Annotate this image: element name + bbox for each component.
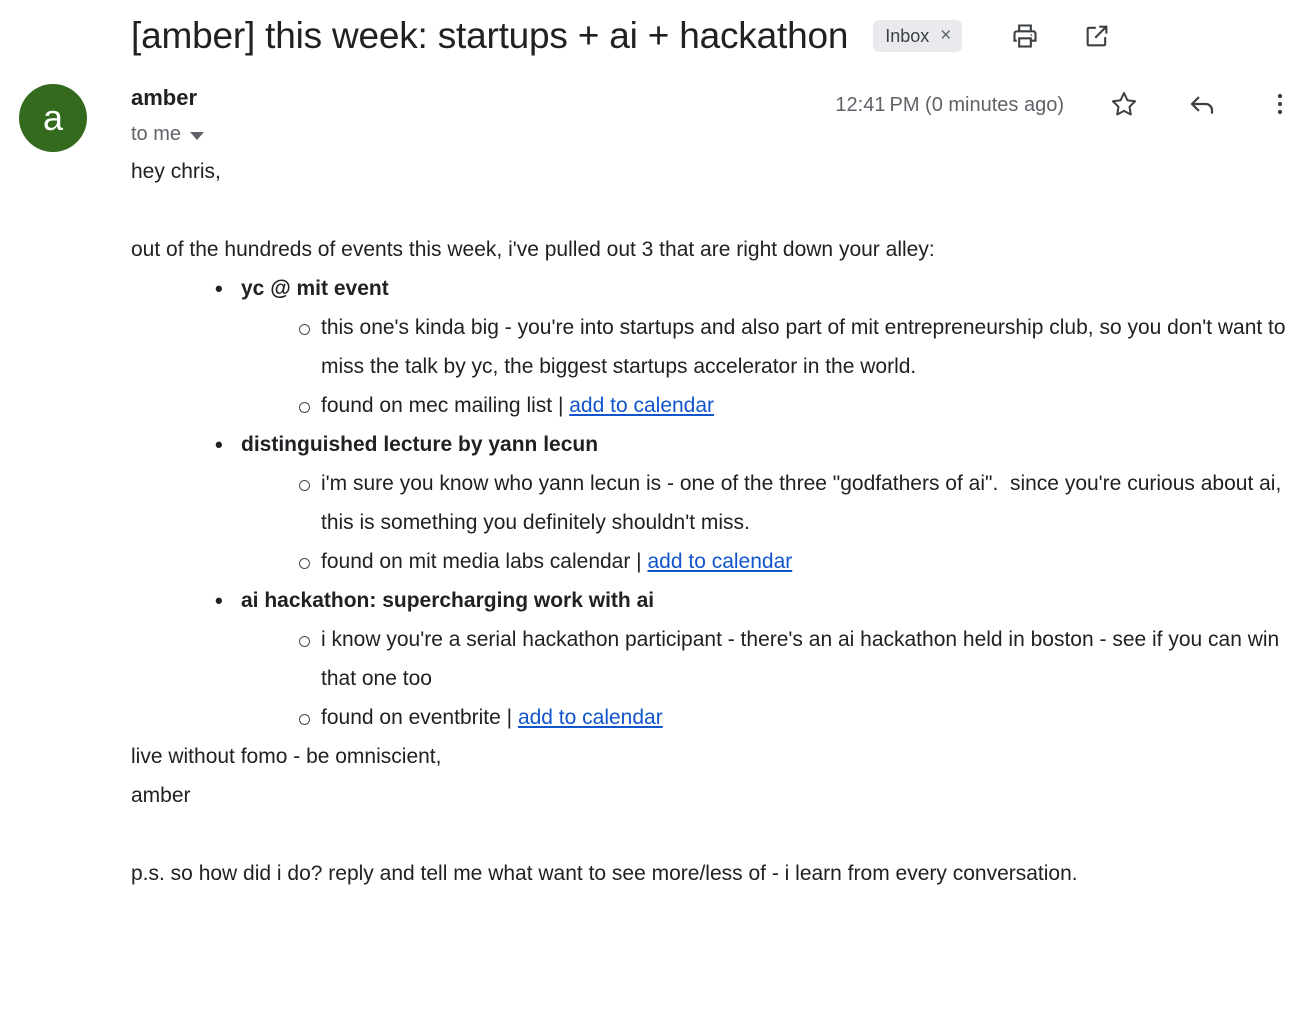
spacer — [131, 191, 1296, 230]
postscript-text: p.s. so how did i do? reply and tell me … — [131, 854, 1296, 893]
header-actions — [1009, 20, 1113, 52]
add-to-calendar-link[interactable]: add to calendar — [569, 394, 714, 417]
label-chip-text: Inbox — [885, 26, 929, 46]
chevron-down-icon[interactable] — [190, 132, 204, 140]
message-body: hey chris, out of the hundreds of events… — [0, 152, 1312, 893]
sender-name: amber — [131, 84, 204, 112]
reply-icon[interactable] — [1186, 88, 1218, 120]
print-icon[interactable] — [1009, 20, 1041, 52]
message-timestamp: 12:41 PM (0 minutes ago) — [835, 94, 1064, 116]
list-item: i know you're a serial hackathon partici… — [321, 620, 1296, 698]
intro-text: out of the hundreds of events this week,… — [131, 230, 1296, 269]
event-description: i'm sure you know who yann lecun is - on… — [321, 472, 1287, 534]
sender-block: amber to me — [131, 76, 204, 145]
event-title: yc @ mit event — [241, 269, 1296, 308]
list-item: yc @ mit event this one's kinda big - yo… — [241, 269, 1296, 425]
subject-header: [amber] this week: startups + ai + hacka… — [0, 0, 1312, 68]
signoff-line-1: live without fomo - be omniscient, — [131, 737, 1296, 776]
add-to-calendar-link[interactable]: add to calendar — [647, 550, 792, 573]
avatar: a — [19, 84, 87, 152]
list-item: found on mit media labs calendar | add t… — [321, 542, 1296, 581]
recipient-toggle[interactable]: to me — [131, 123, 204, 145]
recipient-label: to me — [131, 123, 181, 145]
event-list: yc @ mit event this one's kinda big - yo… — [131, 269, 1296, 737]
event-title: ai hackathon: supercharging work with ai — [241, 581, 1296, 620]
close-icon[interactable]: × — [940, 27, 951, 45]
list-item: ai hackathon: supercharging work with ai… — [241, 581, 1296, 737]
event-title: distinguished lecture by yann lecun — [241, 425, 1296, 464]
message-meta: a amber to me 12:41 PM (0 minutes ago) — [0, 68, 1312, 152]
star-icon[interactable] — [1108, 88, 1140, 120]
list-item: found on mec mailing list | add to calen… — [321, 386, 1296, 425]
greeting-text: hey chris, — [131, 152, 1296, 191]
event-details: this one's kinda big - you're into start… — [241, 308, 1296, 425]
add-to-calendar-link[interactable]: add to calendar — [518, 706, 663, 729]
list-item: this one's kinda big - you're into start… — [321, 308, 1296, 386]
event-description: i know you're a serial hackathon partici… — [321, 628, 1285, 690]
event-source: found on mec mailing list | — [321, 394, 569, 417]
page-title: [amber] this week: startups + ai + hacka… — [131, 14, 848, 58]
open-in-new-window-icon[interactable] — [1081, 20, 1113, 52]
more-options-icon[interactable] — [1264, 88, 1296, 120]
event-source: found on eventbrite | — [321, 706, 518, 729]
list-item: i'm sure you know who yann lecun is - on… — [321, 464, 1296, 542]
event-details: i'm sure you know who yann lecun is - on… — [241, 464, 1296, 581]
list-item: distinguished lecture by yann lecun i'm … — [241, 425, 1296, 581]
label-chip-inbox[interactable]: Inbox × — [873, 20, 962, 52]
event-description: this one's kinda big - you're into start… — [321, 316, 1291, 378]
signoff-line-2: amber — [131, 776, 1296, 815]
event-source: found on mit media labs calendar | — [321, 550, 647, 573]
event-details: i know you're a serial hackathon partici… — [241, 620, 1296, 737]
message-actions — [1108, 88, 1296, 120]
spacer — [131, 815, 1296, 854]
list-item: found on eventbrite | add to calendar — [321, 698, 1296, 737]
